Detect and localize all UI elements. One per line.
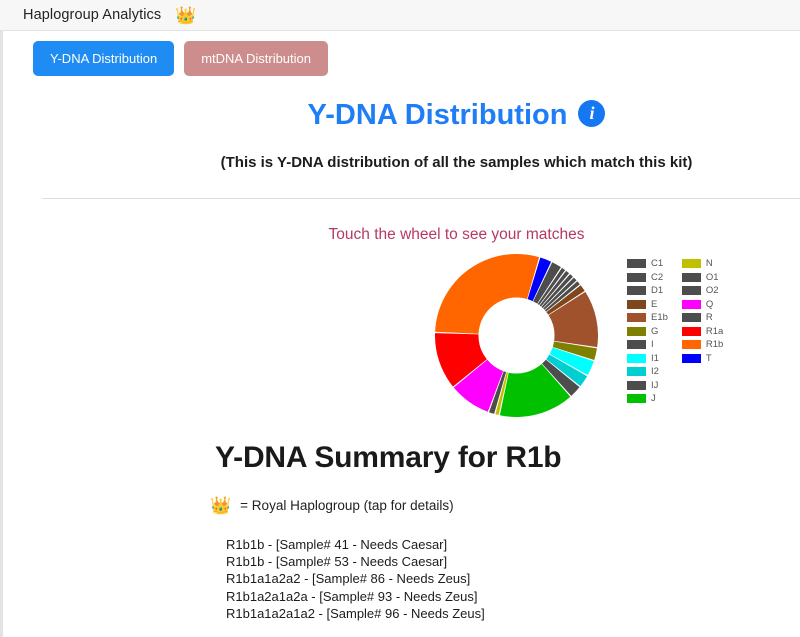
legend-item-ij[interactable]: IJ xyxy=(627,379,668,393)
crown-icon: 👑 xyxy=(210,497,231,514)
legend-label: O2 xyxy=(706,286,719,296)
legend-column-right: NO1O2QRR1aR1bT xyxy=(682,257,723,406)
legend-swatch-icon xyxy=(627,394,646,403)
legend-swatch-icon xyxy=(682,327,701,336)
legend-item-r1a[interactable]: R1a xyxy=(682,325,723,339)
donut-svg[interactable] xyxy=(435,254,598,417)
sample-list: R1b1b - [Sample# 41 - Needs Caesar]R1b1b… xyxy=(226,536,800,622)
legend-swatch-icon xyxy=(627,367,646,376)
legend-swatch-icon xyxy=(627,300,646,309)
legend-swatch-icon xyxy=(682,313,701,322)
legend-item-i1[interactable]: I1 xyxy=(627,352,668,366)
ydna-donut-chart[interactable] xyxy=(435,254,598,417)
legend-item-n[interactable]: N xyxy=(682,257,723,271)
touch-wheel-hint: Touch the wheel to see your matches xyxy=(113,226,800,244)
app-header: Haplogroup Analytics 👑 xyxy=(0,0,800,31)
legend-item-c1[interactable]: C1 xyxy=(627,257,668,271)
app-title: Haplogroup Analytics xyxy=(23,7,161,23)
legend-label: C2 xyxy=(651,273,663,283)
legend-item-i2[interactable]: I2 xyxy=(627,365,668,379)
legend-item-q[interactable]: Q xyxy=(682,298,723,312)
legend-swatch-icon xyxy=(682,354,701,363)
legend-swatch-icon xyxy=(627,381,646,390)
summary-block: Y-DNA Summary for R1b 👑 = Royal Haplogro… xyxy=(3,441,800,622)
legend-item-i[interactable]: I xyxy=(627,338,668,352)
legend-swatch-icon xyxy=(682,273,701,282)
donut-slice-r1b[interactable] xyxy=(435,254,539,334)
legend-item-j[interactable]: J xyxy=(627,392,668,406)
title-block: Y-DNA Distributioni (This is Y-DNA distr… xyxy=(3,76,800,171)
legend-swatch-icon xyxy=(627,259,646,268)
legend-swatch-icon xyxy=(627,286,646,295)
sample-row[interactable]: R1b1a1a2a1a2 - [Sample# 96 - Needs Zeus] xyxy=(226,605,800,622)
legend-label: C1 xyxy=(651,259,663,269)
legend-item-e1b[interactable]: E1b xyxy=(627,311,668,325)
chart-legend: C1C2D1EE1bGII1I2IJJ NO1O2QRR1aR1bT xyxy=(627,257,723,406)
info-icon[interactable]: i xyxy=(578,100,605,127)
legend-item-o2[interactable]: O2 xyxy=(682,284,723,298)
sample-row[interactable]: R1b1a2a1a2a - [Sample# 93 - Needs Zeus] xyxy=(226,588,800,605)
donut-slices[interactable] xyxy=(435,254,598,417)
legend-swatch-icon xyxy=(627,327,646,336)
legend-swatch-icon xyxy=(627,273,646,282)
legend-label: R1a xyxy=(706,327,723,337)
legend-label: T xyxy=(706,354,712,364)
legend-item-g[interactable]: G xyxy=(627,325,668,339)
sample-row[interactable]: R1b1b - [Sample# 41 - Needs Caesar] xyxy=(226,536,800,553)
legend-swatch-icon xyxy=(682,340,701,349)
sample-row[interactable]: R1b1a1a2a2 - [Sample# 86 - Needs Zeus] xyxy=(226,570,800,587)
legend-item-d1[interactable]: D1 xyxy=(627,284,668,298)
legend-item-c2[interactable]: C2 xyxy=(627,271,668,285)
royal-legend-label: = Royal Haplogroup (tap for details) xyxy=(240,498,454,513)
chart-area: C1C2D1EE1bGII1I2IJJ NO1O2QRR1aR1bT xyxy=(3,254,800,419)
tab-bar: Y-DNA Distribution mtDNA Distribution xyxy=(3,31,800,76)
legend-label: IJ xyxy=(651,381,658,391)
legend-label: R1b xyxy=(706,340,723,350)
summary-title: Y-DNA Summary for R1b xyxy=(215,441,800,475)
legend-label: N xyxy=(706,259,713,269)
donut-slice-e1b[interactable] xyxy=(549,292,598,347)
page-subtitle: (This is Y-DNA distribution of all the s… xyxy=(113,154,800,171)
legend-swatch-icon xyxy=(627,354,646,363)
legend-label: E1b xyxy=(651,313,668,323)
tab-mtdna-distribution[interactable]: mtDNA Distribution xyxy=(184,41,328,76)
legend-item-o1[interactable]: O1 xyxy=(682,271,723,285)
tab-ydna-distribution[interactable]: Y-DNA Distribution xyxy=(33,41,174,76)
legend-label: D1 xyxy=(651,286,663,296)
legend-label: E xyxy=(651,300,657,310)
sample-row[interactable]: R1b1b - [Sample# 53 - Needs Caesar] xyxy=(226,553,800,570)
legend-item-r[interactable]: R xyxy=(682,311,723,325)
legend-column-left: C1C2D1EE1bGII1I2IJJ xyxy=(627,257,668,406)
legend-label: I1 xyxy=(651,354,659,364)
legend-label: G xyxy=(651,327,658,337)
section-divider xyxy=(42,198,800,199)
legend-label: J xyxy=(651,394,656,404)
legend-swatch-icon xyxy=(682,259,701,268)
royal-haplogroup-legend[interactable]: 👑 = Royal Haplogroup (tap for details) xyxy=(210,497,800,514)
legend-swatch-icon xyxy=(682,286,701,295)
legend-label: Q xyxy=(706,300,713,310)
legend-swatch-icon xyxy=(627,340,646,349)
legend-swatch-icon xyxy=(682,300,701,309)
legend-label: I2 xyxy=(651,367,659,377)
legend-label: R xyxy=(706,313,713,323)
page-frame: Y-DNA Distribution mtDNA Distribution Y-… xyxy=(0,31,800,637)
crown-icon[interactable]: 👑 xyxy=(175,7,196,24)
legend-label: O1 xyxy=(706,273,719,283)
page-title: Y-DNA Distribution xyxy=(308,99,568,132)
legend-label: I xyxy=(651,340,654,350)
legend-item-e[interactable]: E xyxy=(627,298,668,312)
legend-item-t[interactable]: T xyxy=(682,352,723,366)
legend-swatch-icon xyxy=(627,313,646,322)
legend-item-r1b[interactable]: R1b xyxy=(682,338,723,352)
